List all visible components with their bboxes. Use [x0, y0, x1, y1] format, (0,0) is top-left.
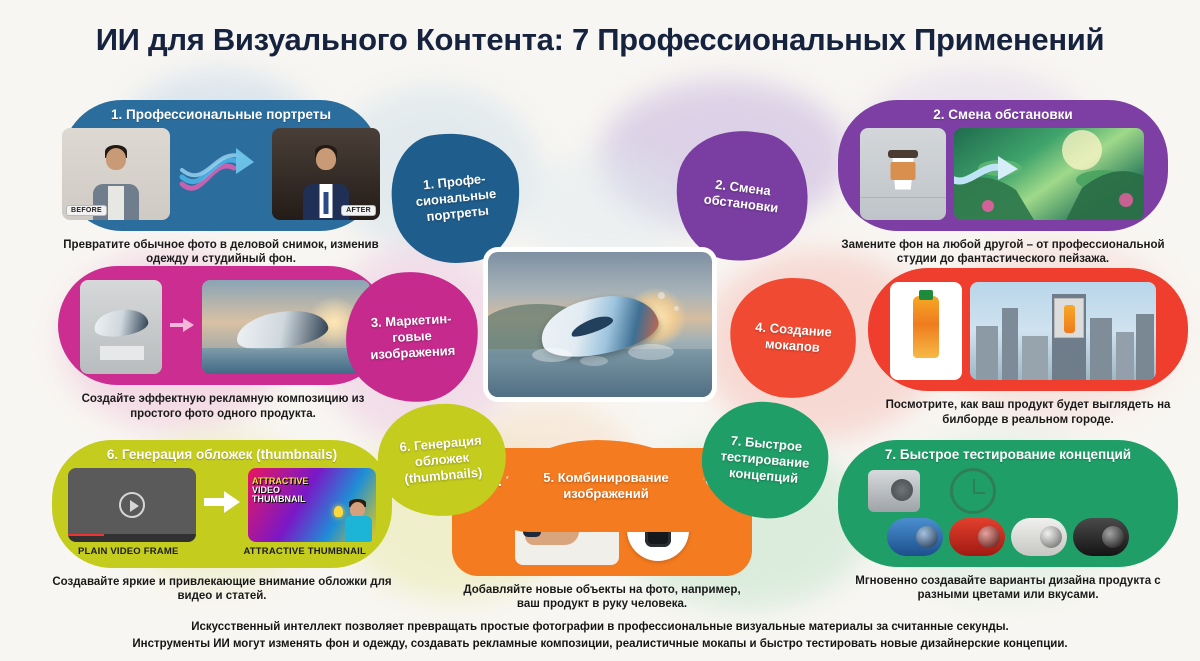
card7-media-bottom: [860, 518, 1156, 556]
petal3-label: 3. Маркетин-говые изображения: [351, 310, 473, 364]
fantasy-landscape-photo: [954, 128, 1144, 220]
card7-caption: Мгновенно создавайте варианты дизайна пр…: [838, 574, 1178, 603]
footer-line-1: Искусственный интеллект позволяет превра…: [0, 619, 1200, 636]
footer-line-2: Инструменты ИИ могут изменять фон и одеж…: [0, 636, 1200, 653]
card-marketing-images[interactable]: Создайте эффектную рекламную композицию …: [58, 266, 388, 421]
card6-heading: 6. Генерация обложек (thumbnails): [74, 447, 370, 463]
card3-caption: Создайте эффектную рекламную композицию …: [58, 392, 388, 421]
coffee-cup-photo: [860, 128, 946, 220]
before-photo: BEFORE: [62, 128, 170, 220]
card7-heading: 7. Быстрое тестирование концепций: [860, 447, 1156, 463]
petal5-label: 5. Комбинирование изображений: [504, 470, 708, 502]
after-photo: AFTER: [272, 128, 380, 220]
card1-heading: 1. Профессиональные портреты: [84, 107, 358, 123]
clock-icon: [950, 468, 996, 514]
card3-pill: [58, 266, 388, 385]
card2-pill: 2. Смена обстановки: [838, 100, 1168, 231]
card2-media: [860, 128, 1146, 220]
card6-sublabels: PLAIN VIDEO FRAME ATTRACTIVE THUMBNAIL: [74, 546, 370, 557]
card3-media: [80, 280, 366, 374]
marketing-shoe-photo: [202, 280, 370, 374]
page-title: ИИ для Визуального Контента: 7 Профессио…: [0, 22, 1200, 58]
speaker-red: [949, 518, 1005, 556]
card4-caption: Посмотрите, как ваш продукт будет выгляд…: [868, 398, 1188, 427]
petal6-label: 6. Генерация обложек (thumbnails): [382, 431, 502, 489]
petal4-label: 4. Создание мокапов: [735, 318, 851, 358]
transform-arrow-icon: [178, 144, 264, 204]
card4-pill: [868, 268, 1188, 391]
card-concept-testing[interactable]: 7. Быстрое тестирование концепций Мгнове…: [838, 440, 1178, 603]
card2-caption: Замените фон на любой другой – от профес…: [838, 238, 1168, 267]
prototype-speaker-icon: [868, 470, 920, 512]
label-attractive-thumbnail: ATTRACTIVE THUMBNAIL: [243, 546, 366, 557]
card1-caption: Превратите обычное фото в деловой снимок…: [62, 238, 380, 267]
label-plain-video-frame: PLAIN VIDEO FRAME: [78, 546, 179, 557]
badge-before: BEFORE: [66, 205, 107, 216]
card-change-environment[interactable]: 2. Смена обстановки: [838, 100, 1168, 267]
card2-heading: 2. Смена обстановки: [860, 107, 1146, 123]
footer-text: Искусственный интеллект позволяет превра…: [0, 619, 1200, 654]
card6-pill: 6. Генерация обложек (thumbnails) ATTRAC…: [52, 440, 392, 568]
card5-caption: Добавляйте новые объекты на фото, наприм…: [452, 583, 752, 612]
card7-media-top: [860, 468, 1156, 514]
petal7-label: 7. Быстрое тестирование концепций: [706, 431, 824, 488]
card1-media: BEFORE AFTER: [84, 128, 358, 220]
speaker-blue: [887, 518, 943, 556]
card6-media: ATTRACTIVE VIDEO THUMBNAIL: [74, 468, 370, 542]
petal2-label: 2. Смена обстановки: [681, 173, 804, 219]
arrow-right-white-icon: [204, 491, 240, 518]
card1-pill: 1. Профессиональные портреты BEFORE AFTE…: [62, 100, 380, 231]
card7-pill: 7. Быстрое тестирование концепций: [838, 440, 1178, 567]
person-illustration: [344, 498, 374, 542]
city-billboard-photo: [970, 282, 1156, 380]
badge-after: AFTER: [341, 205, 376, 216]
plain-shoe-photo: [80, 280, 162, 374]
card-thumbnail-generation[interactable]: 6. Генерация обложек (thumbnails) ATTRAC…: [52, 440, 392, 604]
card6-caption: Создавайте яркие и привлекающие внимание…: [52, 575, 392, 604]
juice-bottle-photo: [890, 282, 962, 380]
speaker-black: [1073, 518, 1129, 556]
arrow-right-icon: [170, 318, 194, 337]
card-mockups[interactable]: Посмотрите, как ваш продукт будет выгляд…: [868, 268, 1188, 427]
card4-media: [890, 282, 1166, 380]
card-professional-portraits[interactable]: 1. Профессиональные портреты BEFORE AFTE…: [62, 100, 380, 267]
petal1-label: 1. Профе-сиональные портреты: [396, 168, 516, 227]
thumbnail-text: ATTRACTIVE VIDEO THUMBNAIL: [252, 477, 308, 505]
hero-shoe-image: [488, 252, 712, 397]
attractive-thumbnail: ATTRACTIVE VIDEO THUMBNAIL: [248, 468, 376, 542]
speaker-white: [1011, 518, 1067, 556]
plain-video-frame: [68, 468, 196, 542]
thumb-line-3: THUMBNAIL: [252, 495, 308, 504]
